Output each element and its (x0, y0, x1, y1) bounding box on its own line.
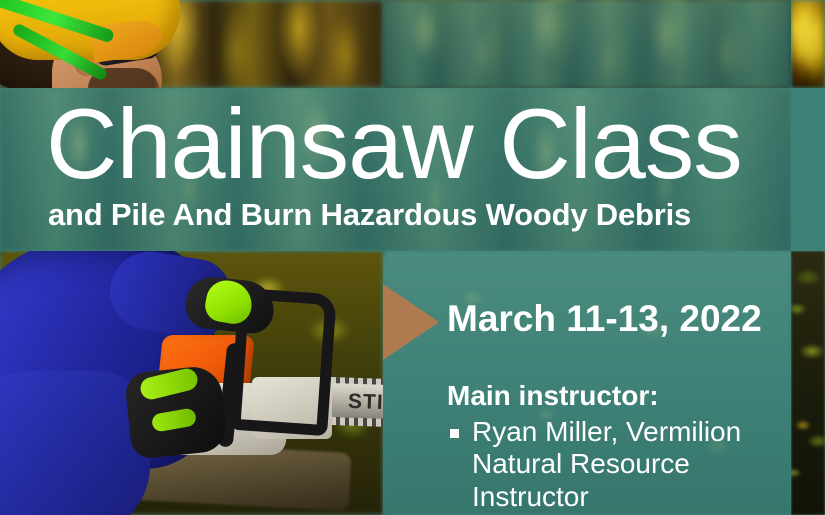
poster-canvas: STIHL Chainsaw Class and Pile And Burn H… (0, 0, 825, 515)
page-subtitle: and Pile And Burn Hazardous Woody Debris (48, 198, 786, 232)
chainsaw-operator-photo: STIHL (0, 251, 383, 515)
worker-yellow-hardhat-photo (0, 0, 383, 88)
title-block: Chainsaw Class and Pile And Burn Hazardo… (46, 96, 786, 232)
event-info-block: March 11-13, 2022 Main instructor: Ryan … (447, 300, 777, 514)
teal-overlay (383, 0, 791, 88)
bottom-left-photo: STIHL (0, 251, 383, 515)
top-right-photo (791, 0, 825, 88)
bottom-right-photo (791, 251, 825, 515)
top-center-photo (383, 0, 791, 88)
chainsaw-brand-label: STIHL (348, 390, 383, 416)
autumn-forest-strip (791, 0, 825, 88)
instructor-name: Ryan Miller, Vermilion Natural Resource … (472, 416, 741, 513)
dark-forest-floor-photo (791, 251, 825, 515)
title-band-solid-strip (791, 88, 825, 251)
top-photo-band (0, 0, 825, 88)
bullet-square-icon (450, 429, 459, 438)
list-item: Ryan Miller, Vermilion Natural Resource … (447, 416, 777, 514)
top-left-photo (0, 0, 383, 88)
arrow-right-triangle-icon (383, 284, 439, 360)
teal-fill (791, 88, 825, 251)
instructor-heading: Main instructor: (447, 381, 777, 412)
page-title: Chainsaw Class (46, 96, 786, 192)
instructor-list: Ryan Miller, Vermilion Natural Resource … (447, 416, 777, 514)
event-date: March 11-13, 2022 (447, 300, 777, 339)
